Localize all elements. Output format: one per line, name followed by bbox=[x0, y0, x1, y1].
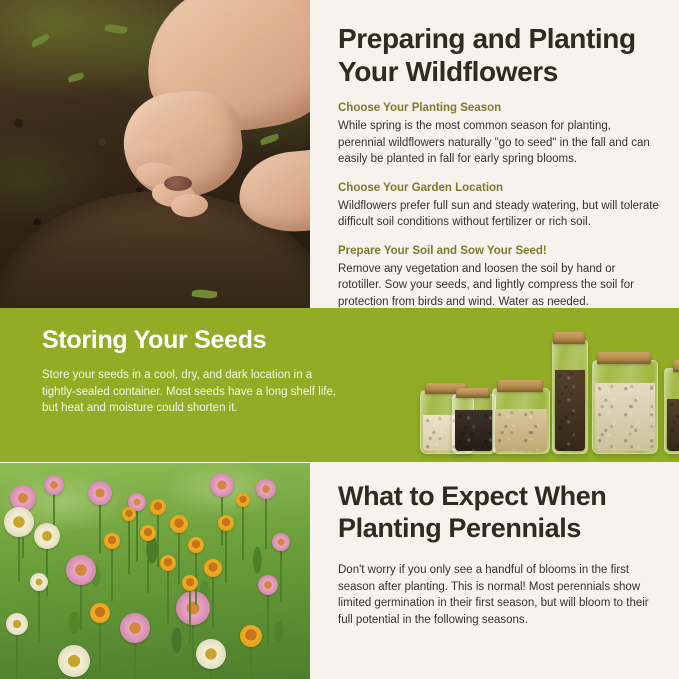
flower-stem bbox=[147, 533, 149, 593]
yellow-flower bbox=[122, 507, 136, 521]
jar-glass bbox=[552, 340, 588, 454]
flower-stem bbox=[157, 507, 159, 567]
yellow-flower bbox=[160, 555, 176, 571]
yellow-flower bbox=[170, 515, 188, 533]
cork-lid-icon bbox=[456, 388, 490, 398]
flower-stem bbox=[167, 563, 169, 623]
flower-stem bbox=[178, 524, 180, 584]
white-coneflower bbox=[196, 639, 226, 669]
page-title-line-1: Preparing and Planting bbox=[338, 23, 636, 54]
expect-heading-line-1: What to Expect When bbox=[338, 481, 606, 511]
jar-bottle-dark-seeds bbox=[664, 361, 679, 454]
expect-heading-line-2: Planting Perennials bbox=[338, 513, 581, 543]
cork-lid-icon bbox=[497, 380, 543, 392]
seed-speckle-texture bbox=[555, 370, 585, 451]
jar-seed-fill bbox=[667, 399, 679, 451]
pink-coneflower bbox=[272, 533, 290, 551]
flower-stem bbox=[195, 545, 197, 605]
pink-coneflower bbox=[258, 575, 278, 595]
wildflower-meadow-coneflowers-photo bbox=[0, 463, 310, 679]
yellow-flower bbox=[240, 625, 262, 647]
section-what-to-expect: What to Expect When Planting Perennials … bbox=[0, 462, 679, 679]
storing-heading: Storing Your Seeds bbox=[42, 326, 347, 355]
yellow-flower bbox=[104, 533, 120, 549]
glass-jars-of-seeds-illustration bbox=[380, 314, 670, 462]
planting-block-location: Choose Your Garden Location Wildflowers … bbox=[338, 181, 660, 231]
pink-coneflower bbox=[120, 613, 150, 643]
flower-stem bbox=[136, 502, 138, 562]
yellow-flower bbox=[140, 525, 156, 541]
jar-short-dark-seeds bbox=[452, 389, 494, 454]
section-storing-your-seeds: Storing Your Seeds Store your seeds in a… bbox=[0, 308, 679, 462]
planting-block-season: Choose Your Planting Season While spring… bbox=[338, 101, 660, 168]
jar-large-pale-flakes bbox=[592, 353, 656, 454]
flower-stem bbox=[280, 542, 282, 602]
white-coneflower bbox=[30, 573, 48, 591]
body-planting-season: While spring is the most common season f… bbox=[338, 118, 660, 168]
yellow-flower bbox=[236, 493, 250, 507]
yellow-flower bbox=[204, 559, 222, 577]
pink-coneflower bbox=[210, 473, 234, 497]
jar-seed-fill bbox=[595, 383, 655, 451]
yellow-flower bbox=[182, 575, 198, 591]
subheading-prepare-soil: Prepare Your Soil and Sow Your Seed! bbox=[338, 244, 660, 259]
flower-stem bbox=[38, 582, 40, 642]
pink-coneflower bbox=[176, 591, 210, 625]
page-title-line-2: Your Wildflowers bbox=[338, 56, 558, 87]
pink-coneflower bbox=[88, 481, 112, 505]
body-prepare-soil: Remove any vegetation and loosen the soi… bbox=[338, 261, 660, 311]
jar-wide-tan-seeds bbox=[492, 381, 548, 454]
flower-stem bbox=[212, 568, 214, 628]
flower-stem bbox=[128, 514, 130, 574]
white-coneflower bbox=[58, 645, 90, 677]
yellow-flower bbox=[188, 537, 204, 553]
white-coneflower bbox=[34, 523, 60, 549]
yellow-flower bbox=[90, 603, 110, 623]
planting-text-column: Preparing and Planting Your Wildflowers … bbox=[338, 0, 660, 308]
page-title: Preparing and Planting Your Wildflowers bbox=[338, 0, 660, 88]
white-coneflower bbox=[6, 613, 28, 635]
body-garden-location: Wildflowers prefer full sun and steady w… bbox=[338, 198, 660, 231]
subheading-garden-location: Choose Your Garden Location bbox=[338, 181, 660, 196]
yellow-flower bbox=[218, 515, 234, 531]
storing-body: Store your seeds in a cool, dry, and dar… bbox=[42, 367, 347, 417]
white-coneflower bbox=[4, 507, 34, 537]
flower-stem bbox=[242, 500, 244, 560]
yellow-flower bbox=[150, 499, 166, 515]
flower-stem bbox=[225, 523, 227, 583]
seed-speckle-texture bbox=[667, 399, 679, 451]
jar-glass bbox=[452, 394, 496, 454]
jar-seed-fill bbox=[455, 410, 493, 451]
expect-heading: What to Expect When Planting Perennials bbox=[338, 462, 660, 544]
cork-lid-icon bbox=[673, 360, 679, 372]
pink-coneflower bbox=[66, 555, 96, 585]
jar-glass bbox=[592, 360, 658, 454]
cork-lid-icon bbox=[553, 332, 585, 344]
hand-planting-seeds-in-soil-photo bbox=[0, 0, 310, 308]
pink-coneflower bbox=[44, 475, 64, 495]
jar-seed-fill bbox=[555, 370, 585, 451]
flower-stem bbox=[189, 583, 191, 643]
jar-tall-tube-brown bbox=[552, 333, 586, 454]
seeds-in-hand bbox=[164, 176, 192, 191]
infographic-page: Preparing and Planting Your Wildflowers … bbox=[0, 0, 679, 679]
seed-speckle-texture bbox=[455, 410, 493, 451]
section-preparing-and-planting: Preparing and Planting Your Wildflowers … bbox=[0, 0, 679, 308]
seed-speckle-texture bbox=[595, 383, 655, 451]
expect-body: Don't worry if you only see a handful of… bbox=[338, 562, 660, 628]
cork-lid-icon bbox=[597, 352, 651, 364]
expect-text-column: What to Expect When Planting Perennials … bbox=[338, 462, 660, 628]
jar-seed-fill bbox=[495, 409, 547, 451]
seed-speckle-texture bbox=[495, 409, 547, 451]
planting-block-soil: Prepare Your Soil and Sow Your Seed! Rem… bbox=[338, 244, 660, 311]
subheading-planting-season: Choose Your Planting Season bbox=[338, 101, 660, 116]
flower-stem bbox=[111, 541, 113, 601]
storing-text-column: Storing Your Seeds Store your seeds in a… bbox=[42, 326, 347, 417]
pink-coneflower bbox=[256, 479, 276, 499]
jar-glass bbox=[492, 388, 550, 454]
jar-glass bbox=[664, 368, 679, 454]
